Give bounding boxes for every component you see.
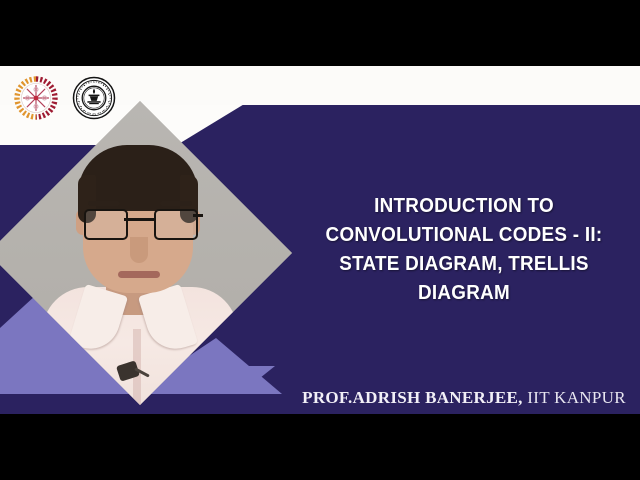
title-line-1: INTRODUCTION TO <box>309 191 618 220</box>
portrait-glasses-bridge <box>124 218 154 221</box>
portrait-glasses-left-lens <box>84 209 128 240</box>
lecture-title: INTRODUCTION TO CONVOLUTIONAL CODES - II… <box>309 191 618 307</box>
portrait-nose <box>130 237 148 263</box>
title-line-2: CONVOLUTIONAL CODES - II: <box>309 220 618 249</box>
logo-group <box>12 74 118 122</box>
title-slide: AN INTRODUCTION TO CODING THEORY <box>0 66 640 414</box>
video-frame: AN INTRODUCTION TO CODING THEORY <box>0 0 640 480</box>
presenter-credit: PROF.ADRISH BANERJEE, IIT KANPUR <box>296 388 632 408</box>
title-line-4: DIAGRAM <box>309 278 618 307</box>
portrait-glasses-right-lens <box>154 209 198 240</box>
portrait-brow-left <box>88 201 120 206</box>
letterbox-top <box>0 0 640 66</box>
iit-kanpur-seal <box>70 74 118 122</box>
nptel-logo <box>12 74 60 122</box>
portrait-glasses-temple <box>193 214 203 217</box>
letterbox-bottom <box>0 414 640 480</box>
presenter-affiliation: IIT KANPUR <box>527 388 626 407</box>
presenter-name: PROF.ADRISH BANERJEE, <box>302 388 523 407</box>
portrait-mouth <box>118 271 160 278</box>
portrait-brow-right <box>160 201 192 206</box>
title-line-3: STATE DIAGRAM, TRELLIS <box>309 249 618 278</box>
